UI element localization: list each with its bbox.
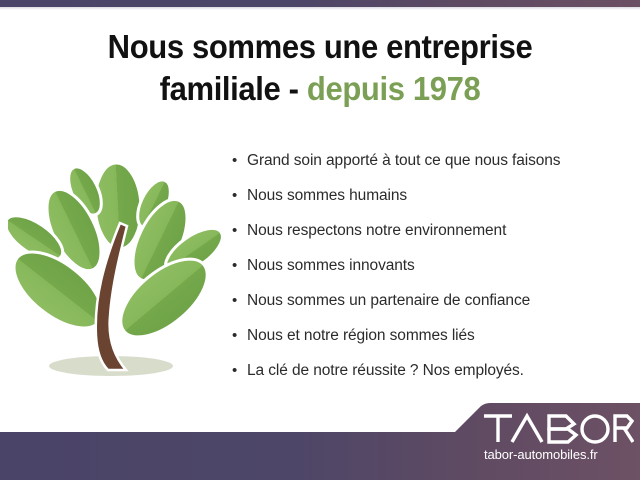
bullet-list: • Grand soin apporté à tout ce que nous … xyxy=(230,151,630,396)
bullet-marker-icon: • xyxy=(230,291,247,311)
list-item-label: La clé de notre réussite ? Nos employés. xyxy=(247,361,524,381)
list-item: • Nous sommes un partenaire de confiance xyxy=(230,291,630,326)
brand-tagline: tabor-automobiles.fr xyxy=(482,447,640,463)
list-item-label: Nous sommes humains xyxy=(247,186,407,206)
bullet-marker-icon: • xyxy=(230,361,247,381)
tabor-wordmark-icon xyxy=(482,412,634,445)
headline-line-1: Nous sommes une entreprise xyxy=(108,28,533,65)
bullet-marker-icon: • xyxy=(230,151,247,171)
bullet-marker-icon: • xyxy=(230,256,247,276)
brand-logo: tabor-automobiles.fr xyxy=(482,412,640,463)
slide-canvas: Nous sommes une entreprise familiale - d… xyxy=(0,0,640,480)
headline-line-2-plain: familiale - xyxy=(160,70,299,107)
list-item-label: Nous sommes un partenaire de confiance xyxy=(247,291,530,311)
bullet-marker-icon: • xyxy=(230,186,247,206)
list-item-label: Grand soin apporté à tout ce que nous fa… xyxy=(247,151,560,171)
page-title: Nous sommes une entreprise familiale - d… xyxy=(19,26,621,110)
list-item: • Nous et notre région sommes liés xyxy=(230,326,630,361)
list-item-label: Nous respectons notre environnement xyxy=(247,221,506,241)
bullet-marker-icon: • xyxy=(230,326,247,346)
tree-illustration xyxy=(8,158,223,383)
headline-line-2-accent: depuis 1978 xyxy=(307,70,480,107)
top-accent-strip-shadow xyxy=(0,7,640,10)
list-item-label: Nous et notre région sommes liés xyxy=(247,326,475,346)
bullet-marker-icon: • xyxy=(230,221,247,241)
top-accent-strip xyxy=(0,0,640,7)
list-item-label: Nous sommes innovants xyxy=(247,256,415,276)
list-item: • Grand soin apporté à tout ce que nous … xyxy=(230,151,630,186)
list-item: • La clé de notre réussite ? Nos employé… xyxy=(230,361,630,396)
list-item: • Nous respectons notre environnement xyxy=(230,221,630,256)
list-item: • Nous sommes humains xyxy=(230,186,630,221)
list-item: • Nous sommes innovants xyxy=(230,256,630,291)
